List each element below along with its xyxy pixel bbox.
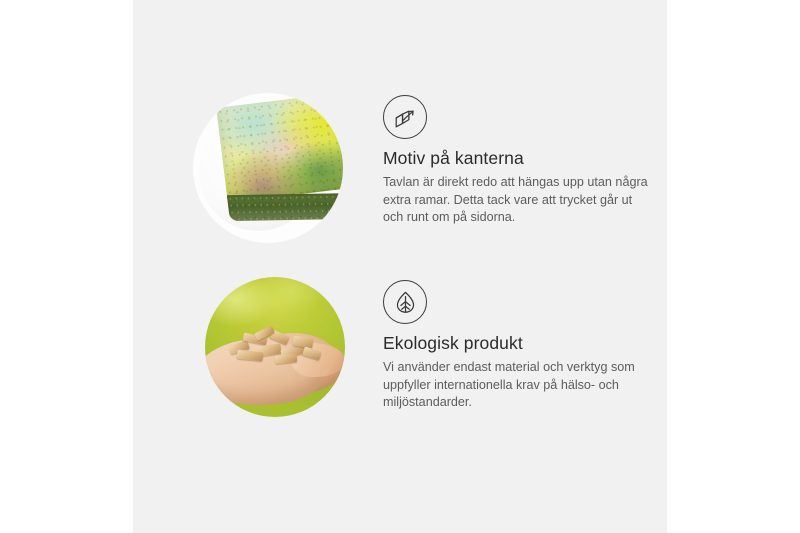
- wood-chip-pile: [225, 323, 329, 369]
- canvas-print-edge: [227, 193, 343, 221]
- canvas-wrapped-edge-icon: [383, 95, 427, 139]
- product-info-banner: Motiv på kanterna Tavlan är direkt redo …: [0, 0, 800, 533]
- leaf-icon: [383, 280, 427, 324]
- canvas-print-corner-photo: [193, 93, 343, 243]
- canvas-print-face: [216, 93, 343, 203]
- hands-holding-wood-chips-photo: [205, 277, 345, 417]
- feature-text-edges: Motiv på kanterna Tavlan är direkt redo …: [383, 95, 663, 227]
- feature-text-eco: Ekologisk produkt Vi använder endast mat…: [383, 280, 663, 412]
- feature-title-eco: Ekologisk produkt: [383, 333, 663, 354]
- feature-item-edges: Motiv på kanterna Tavlan är direkt redo …: [133, 75, 667, 265]
- feature-list: Motiv på kanterna Tavlan är direkt redo …: [133, 0, 667, 533]
- feature-item-eco: Ekologisk produkt Vi använder endast mat…: [133, 262, 667, 452]
- feature-title-edges: Motiv på kanterna: [383, 148, 663, 169]
- content-panel: Motiv på kanterna Tavlan är direkt redo …: [133, 0, 667, 533]
- feature-body-edges: Tavlan är direkt redo att hängas upp uta…: [383, 174, 655, 227]
- feature-body-eco: Vi använder endast material och verktyg …: [383, 359, 655, 412]
- canvas-print-block: [216, 93, 343, 227]
- hands-illustration: [205, 329, 345, 415]
